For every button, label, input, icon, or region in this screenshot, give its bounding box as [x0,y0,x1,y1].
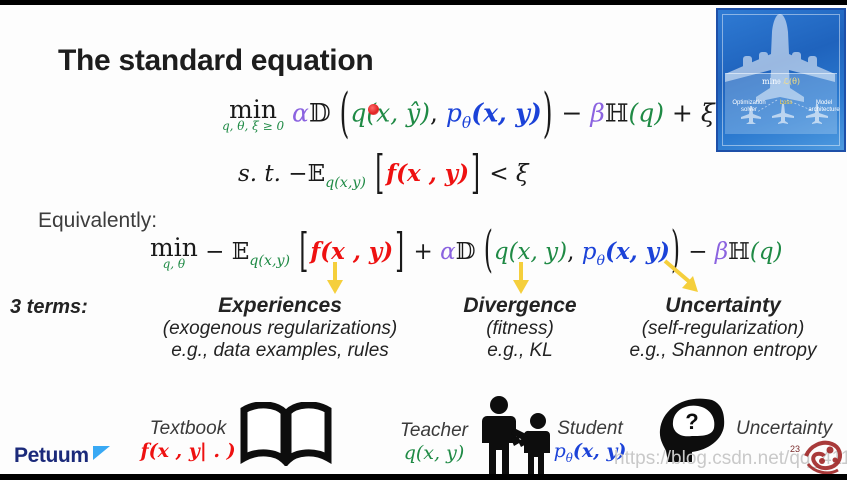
term-experiences-example: e.g., data examples, rules [120,340,440,362]
min-operator-1: min q, θ, ξ ≥ 0 [222,98,284,132]
arrow-to-divergence [508,262,538,296]
open-book-icon [240,402,332,466]
p-distribution: p [446,99,462,128]
mouse-cursor-dot [368,104,379,115]
svg-text:?: ? [685,409,698,434]
term-divergence-parenthetical: (fitness) [420,318,620,340]
term-divergence: Divergence (fitness) e.g., KL [420,294,620,362]
term-experiences-name: Experiences [120,294,440,318]
beta-coefficient: β [590,99,604,128]
teacher-label: Teacher [388,420,480,442]
beta-coefficient-2: β [715,239,728,265]
petuum-triangle-icon [91,444,111,462]
thumbnail-objective: minθ ℒ(θ) [725,77,837,86]
open-paren-2: ( [484,223,493,279]
open-bracket: [ [375,148,384,200]
term-uncertainty-example: e.g., Shannon entropy [600,340,846,362]
open-bracket-2: [ [299,226,308,278]
slide-canvas: The standard equation min q, θ, ξ ≥ 0 α𝔻… [0,0,847,480]
term-uncertainty-parenthetical: (self-regularization) [600,318,846,340]
term-experiences: Experiences (exogenous regularizations) … [120,294,440,362]
close-paren: ) [543,81,553,143]
close-bracket: ] [471,148,480,200]
thumbnail-label-loss: Loss [771,100,801,107]
entropy-symbol-2: ℍ [728,239,750,265]
term-uncertainty: Uncertainty (self-regularization) e.g., … [600,294,846,362]
term-divergence-example: e.g., KL [420,340,620,362]
entropy-symbol: ℍ [605,99,629,128]
page-number: 23 [790,444,800,454]
q-distribution: q(x, ŷ) [350,99,430,128]
term-uncertainty-name: Uncertainty [600,294,846,318]
term-divergence-name: Divergence [420,294,620,318]
teacher-formula: q(x, y) [388,442,480,464]
thumbnail-label-architecture: Model architecture [801,100,846,114]
student-label: Student [540,418,640,440]
min-operator-2: min q, θ [150,236,198,270]
teacher-caption: Teacher q(x, y) [388,420,480,464]
thumbnail-caption-panel: minθ ℒ(θ) Optimization solver Loss Model… [725,73,837,134]
f-experience-term: f(x , y) [386,160,469,187]
term-experiences-parenthetical: (exogenous regularizations) [120,318,440,340]
three-terms-label: 3 terms: [10,296,88,319]
arrow-to-uncertainty [662,258,708,298]
arrow-to-experiences [322,262,352,296]
petuum-logo: Petuum [14,444,111,468]
alpha-coefficient: α [292,99,309,128]
textbook-label: Textbook [138,418,238,440]
equation-constraint: s. t. −𝔼q(x,y) [f(x , y)] < ξ [238,160,529,187]
xi-slack: ξ [701,99,715,128]
equivalently-label: Equivalently: [38,209,157,233]
p-distribution-2: p [582,239,597,265]
divergence-symbol: 𝔻 [309,99,331,128]
petuum-wordmark: Petuum [14,444,89,468]
close-bracket-2: ] [395,226,404,278]
open-paren: ( [340,81,350,143]
divergence-symbol-2: 𝔻 [456,239,476,265]
thumbnail-label-optimization: Optimization solver [727,100,771,114]
alpha-coefficient-2: α [440,239,456,265]
equation-standard: min q, θ, ξ ≥ 0 α𝔻 (q(x, ŷ), pθ(x, y)) −… [222,98,715,132]
page-title: The standard equation [58,44,373,78]
textbook-caption: Textbook f(x , y| . ) [138,418,238,462]
airplane-analogy-thumbnail[interactable]: minθ ℒ(θ) Optimization solver Loss Model… [716,8,846,152]
red-seal-icon [800,436,844,478]
expectation-symbol-2: 𝔼 [232,239,250,265]
expectation-symbol: 𝔼 [308,161,326,187]
textbook-formula: f(x , y| . ) [138,440,238,462]
